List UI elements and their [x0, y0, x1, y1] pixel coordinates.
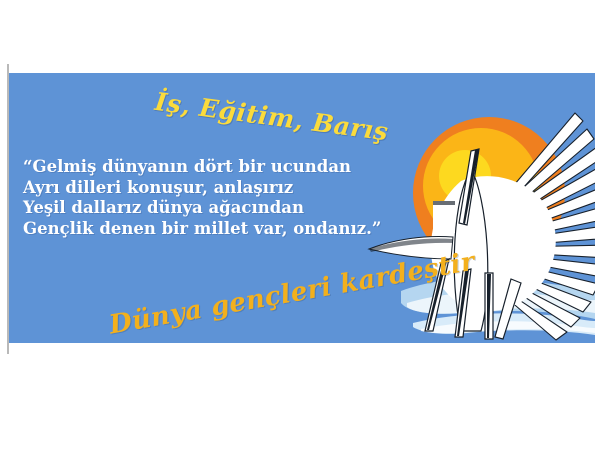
quote-line: Ayrı dilleri konuşur, anlaşırız	[23, 178, 381, 199]
poster-banner: İş, Eğitim, Barış “Gelmiş dünyanın dört …	[9, 73, 595, 343]
poster-quote: “Gelmiş dünyanın dört bir ucundan Ayrı d…	[23, 157, 381, 239]
quote-line: Yeşil dallarız dünya ağacından	[23, 198, 381, 219]
quote-line: “Gelmiş dünyanın dört bir ucundan	[23, 157, 381, 178]
quote-line: Gençlik denen bir millet var, ondanız.”	[23, 219, 381, 240]
poster-canvas: İş, Eğitim, Barış “Gelmiş dünyanın dört …	[0, 0, 601, 450]
